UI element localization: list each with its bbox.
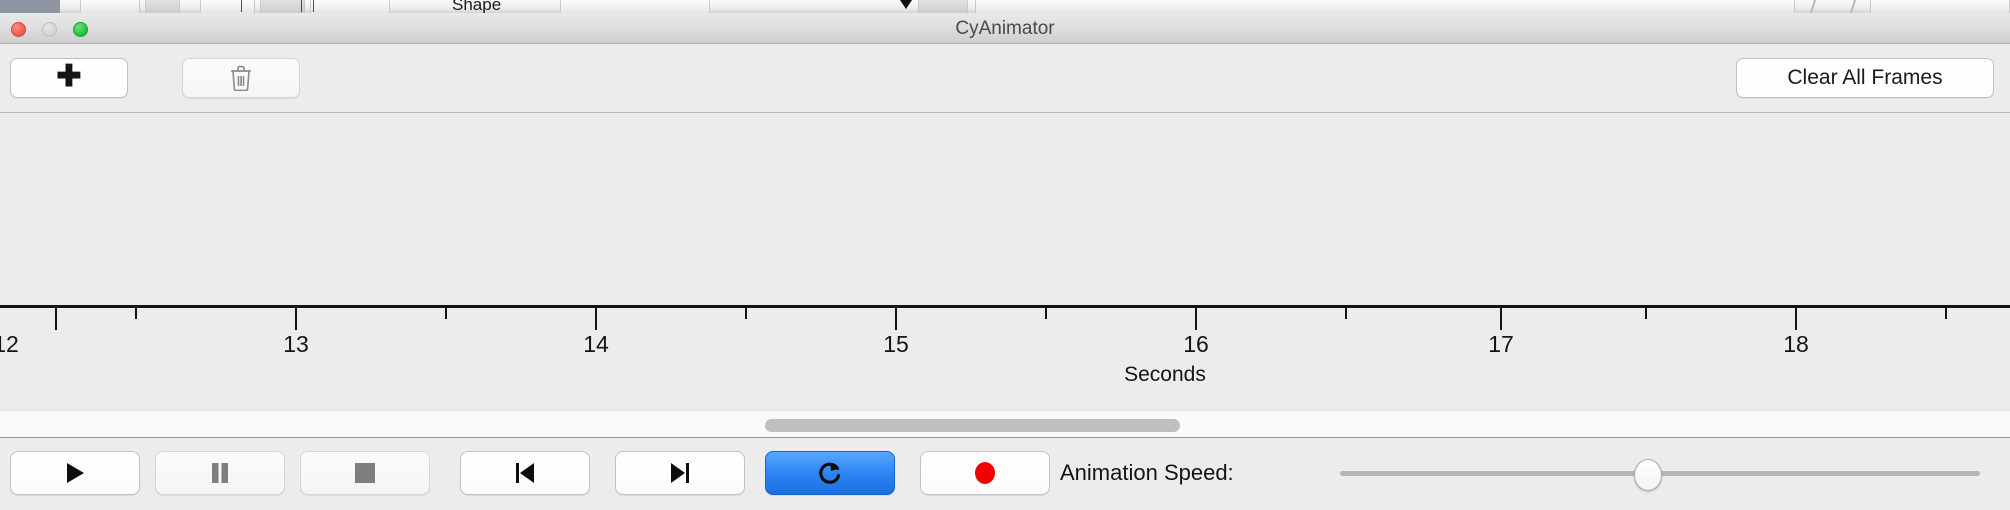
loop-button[interactable] <box>765 451 895 495</box>
axis-tick-label: 12 <box>0 331 19 358</box>
axis-tick-label: 13 <box>283 331 309 358</box>
axis-tick-minor <box>1345 308 1347 319</box>
axis-tick-label: 17 <box>1488 331 1514 358</box>
background-glyph: | <box>312 0 315 13</box>
stop-icon <box>354 462 376 484</box>
stop-button[interactable] <box>300 451 430 495</box>
page-title: CyAnimator <box>0 13 2010 44</box>
skip-next-icon <box>669 461 691 485</box>
delete-frame-button[interactable] <box>182 58 300 98</box>
background-toolbar-chip <box>1870 0 2010 13</box>
background-divider <box>1850 0 1856 13</box>
axis-line <box>0 305 2010 308</box>
pause-button[interactable] <box>155 451 285 495</box>
maximize-button[interactable] <box>73 22 88 37</box>
skip-previous-button[interactable] <box>460 451 590 495</box>
slider-thumb[interactable] <box>1634 459 1662 491</box>
axis-tick-minor <box>1945 308 1947 319</box>
background-toolbar-chip <box>560 0 710 13</box>
axis-title: Seconds <box>0 363 2010 387</box>
axis-tick-major <box>1500 308 1502 330</box>
skip-next-button[interactable] <box>615 451 745 495</box>
axis-tick-minor <box>1045 308 1047 319</box>
record-button[interactable] <box>920 451 1050 495</box>
axis-tick-minor <box>445 308 447 319</box>
axis-tick-label: 16 <box>1183 331 1209 358</box>
background-toolbar-chip <box>80 0 140 13</box>
frame-strip[interactable]: MCM1 <box>0 113 2010 305</box>
axis-tick-major <box>1795 308 1797 330</box>
background-triangle-icon <box>900 0 912 9</box>
trash-icon <box>230 65 252 91</box>
axis-tick-major <box>295 308 297 330</box>
play-button[interactable] <box>10 451 140 495</box>
animation-speed-label: Animation Speed: <box>1060 451 1234 495</box>
background-toolbar-chip <box>975 0 1795 13</box>
playback-control-bar: Animation Speed: <box>0 439 2010 510</box>
background-toolbar-chip <box>200 0 255 13</box>
axis-tick-major <box>55 308 57 330</box>
background-toolbar-chip <box>918 0 968 13</box>
background-glyph: | <box>300 0 303 13</box>
axis-tick-label: 14 <box>583 331 609 358</box>
axis-tick-label: 18 <box>1783 331 1809 358</box>
background-sidebar <box>0 0 60 13</box>
toolbar: ✚ Clear All Frames <box>0 44 2010 113</box>
axis-tick-label: 15 <box>883 331 909 358</box>
clear-all-frames-label: Clear All Frames <box>1787 66 1942 90</box>
timeline-axis[interactable]: 12 13 14 15 16 17 18 Seconds <box>0 305 2010 410</box>
record-icon <box>973 460 997 486</box>
horizontal-scrollbar[interactable] <box>0 410 2010 438</box>
title-bar: CyAnimator <box>0 13 2010 44</box>
background-shape-label: Shape <box>452 0 501 13</box>
play-icon <box>64 461 86 485</box>
close-button[interactable] <box>11 22 26 37</box>
loop-icon <box>817 459 843 487</box>
skip-previous-icon <box>514 461 536 485</box>
background-toolbar-chip <box>310 0 390 13</box>
plus-icon: ✚ <box>56 62 81 92</box>
pause-icon <box>210 461 230 485</box>
axis-tick-major <box>895 308 897 330</box>
cyanimator-window: | | | Shape CyAnimator ✚ <box>0 0 2010 510</box>
clear-all-frames-button[interactable]: Clear All Frames <box>1736 58 1994 98</box>
background-toolbar-chip <box>145 0 180 13</box>
animation-speed-slider[interactable] <box>1330 451 1990 495</box>
axis-tick-major <box>1195 308 1197 330</box>
background-glyph: | <box>240 0 243 13</box>
background-toolbar-chip <box>260 0 305 13</box>
axis-title-text: Seconds <box>1124 363 1206 386</box>
axis-tick-minor <box>1645 308 1647 319</box>
add-frame-button[interactable]: ✚ <box>10 58 128 98</box>
minimize-button[interactable] <box>42 22 57 37</box>
axis-tick-major <box>595 308 597 330</box>
axis-tick-minor <box>745 308 747 319</box>
axis-tick-minor <box>135 308 137 319</box>
background-divider <box>1810 0 1816 13</box>
background-window-strip: | | | Shape <box>0 0 2010 13</box>
scrollbar-thumb[interactable] <box>765 419 1180 432</box>
